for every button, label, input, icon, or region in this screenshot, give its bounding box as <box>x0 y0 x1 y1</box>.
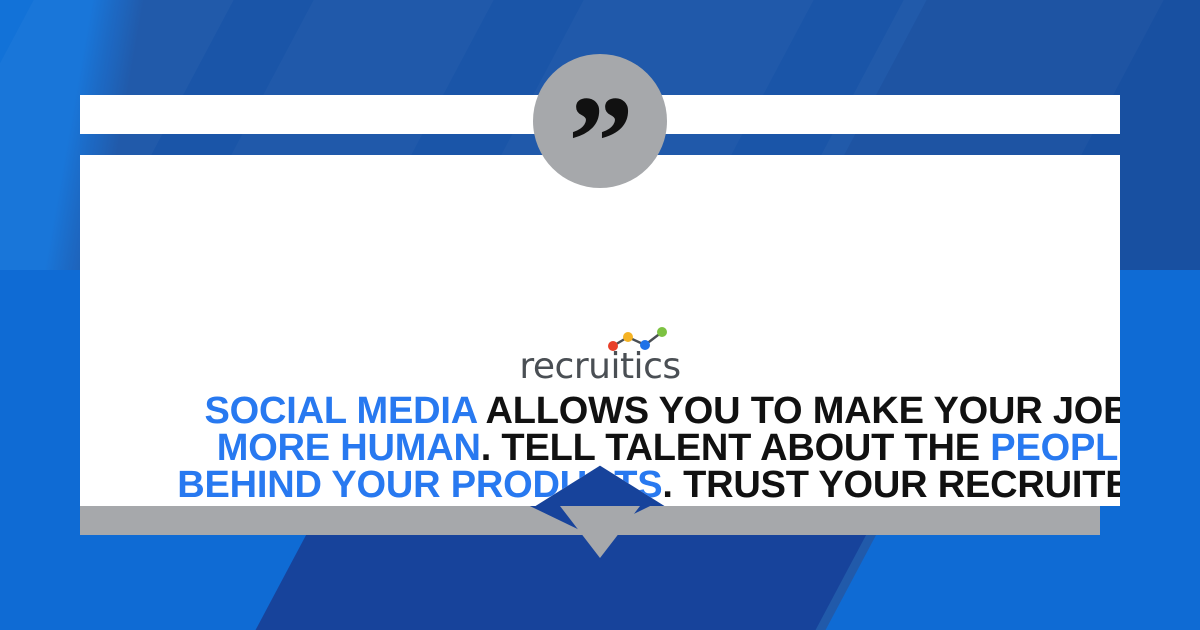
recruitics-chart-icon <box>607 327 669 353</box>
quote-mark-badge: ” <box>533 54 667 188</box>
quote-segment-2: MORE HUMAN <box>217 427 481 469</box>
quote-graphic: recruitics SOCIAL MEDIA ALLOWS YOU TO MA… <box>0 0 1200 630</box>
closing-quotation-mark-icon: ” <box>568 76 632 208</box>
quote-segment-0: SOCIAL MEDIA <box>204 390 476 432</box>
quote-segment-1: ALLOWS YOU TO MAKE YOUR JOBS <box>477 390 1156 432</box>
recruitics-logo: recruitics <box>80 341 1120 385</box>
quote-segment-3: . TELL TALENT ABOUT THE <box>481 427 991 469</box>
